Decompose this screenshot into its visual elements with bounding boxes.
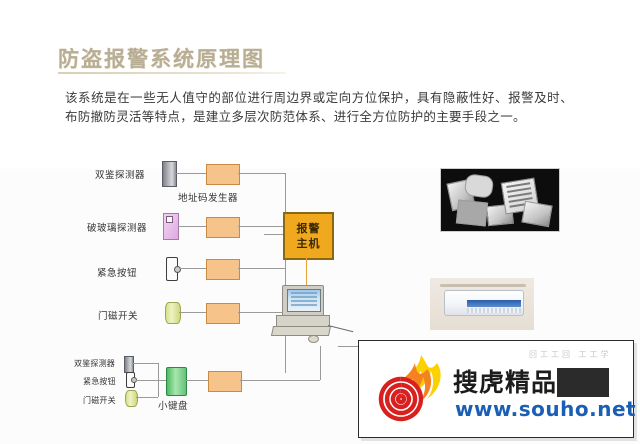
wire-keypad-sensor1-drop xyxy=(158,363,159,380)
computer-cable xyxy=(328,325,353,332)
computer-screen xyxy=(287,289,321,312)
watermark-ghost-text: 回工工回 工工学 xyxy=(529,349,612,360)
intro-paragraph: 该系统是在一些无人值守的部位进行周边界或定向方位保护，具有隐蔽性好、报警及时、布… xyxy=(65,88,573,126)
keypad-icon xyxy=(166,367,187,396)
wire-keypad-bus-rise xyxy=(320,346,321,380)
wire-keypad-sensor2 xyxy=(136,380,166,381)
wire-keypad-to-generator xyxy=(185,380,208,381)
watermark-badge: 回工工回 工工学 搜虎精品社区 www.souho.net xyxy=(358,340,634,438)
keypad-label: 小键盘 xyxy=(158,398,188,412)
keypad-emergency-button-icon xyxy=(126,372,135,388)
address-generator-keypad xyxy=(208,371,242,392)
alarm-host-line1: 报警 xyxy=(297,221,321,236)
monitoring-computer xyxy=(272,285,338,341)
wire-generator2-to-bus xyxy=(238,226,285,227)
wire-generator1-to-bus xyxy=(238,173,285,174)
door-magnet-switch-icon xyxy=(165,302,181,324)
watermark-brand-tail: 社区 xyxy=(557,368,609,397)
photo-device-2 xyxy=(464,173,495,199)
sensor-label-emergency-button: 紧急按钮 xyxy=(97,265,137,279)
wire-keypad-generator-to-bus xyxy=(240,380,320,381)
watermark-brand-main: 搜虎精品 xyxy=(453,368,557,397)
computer-keyboard xyxy=(271,326,331,336)
wire-sensor1-to-generator xyxy=(176,173,206,174)
wire-sensor4-to-generator xyxy=(179,312,206,313)
emergency-button-icon xyxy=(166,257,178,281)
keypad-sensor-label-emergency-button: 紧急按钮 xyxy=(83,376,116,387)
address-generator-2 xyxy=(206,217,240,238)
address-generator-4 xyxy=(206,303,240,324)
wire-keypad-sensor1 xyxy=(132,363,158,364)
wall-unit-display xyxy=(467,300,521,307)
title-underline xyxy=(58,72,286,74)
photo-alarm-devices xyxy=(440,168,560,232)
wire-sensor3-to-generator xyxy=(180,268,206,269)
computer-mouse xyxy=(308,335,319,343)
signal-bus-line xyxy=(285,173,286,373)
photo-wall-mounted-device xyxy=(430,278,534,330)
wire-sensor2-to-generator xyxy=(178,226,206,227)
alarm-host-box: 报警 主机 xyxy=(283,212,334,260)
glass-break-detector-icon xyxy=(163,213,179,240)
keypad-dual-detector-icon xyxy=(124,356,134,373)
computer-monitor xyxy=(282,285,324,317)
slide-page: 防盗报警系统原理图 该系统是在一些无人值守的部位进行周边界或定向方位保护，具有隐… xyxy=(0,0,640,444)
photo-device-5 xyxy=(521,201,552,228)
keypad-sensor-label-door-switch: 门磁开关 xyxy=(83,395,116,406)
dual-detector-icon xyxy=(162,161,177,187)
wall-unit-vent xyxy=(467,308,521,313)
wall-rail xyxy=(440,284,526,287)
address-generator-label: 地址码发生器 xyxy=(178,190,238,204)
watermark-brand: 搜虎精品社区 xyxy=(453,363,609,399)
wire-host-to-computer xyxy=(306,256,307,286)
wall-unit-body xyxy=(444,290,524,316)
address-generator-3 xyxy=(206,259,240,280)
watermark-url: www.souho.net xyxy=(455,397,636,421)
wire-generator3-to-bus xyxy=(238,268,285,269)
wire-keypad-sensor3 xyxy=(136,397,158,398)
wire-keypad-sensor3-rise xyxy=(158,380,159,397)
sensor-label-dual-detector: 双鉴探测器 xyxy=(95,167,145,181)
flame-spiral-logo-icon xyxy=(375,353,447,425)
sensor-label-glass-break: 破玻璃探测器 xyxy=(87,220,147,234)
keypad-sensor-label-dual-detector: 双鉴探测器 xyxy=(74,358,115,369)
alarm-host-line2: 主机 xyxy=(297,236,321,251)
photo-device-3 xyxy=(456,199,488,226)
page-title: 防盗报警系统原理图 xyxy=(58,43,265,73)
keypad-door-switch-icon xyxy=(125,390,138,407)
address-generator-1 xyxy=(206,164,240,185)
sensor-label-door-switch: 门磁开关 xyxy=(98,308,138,322)
